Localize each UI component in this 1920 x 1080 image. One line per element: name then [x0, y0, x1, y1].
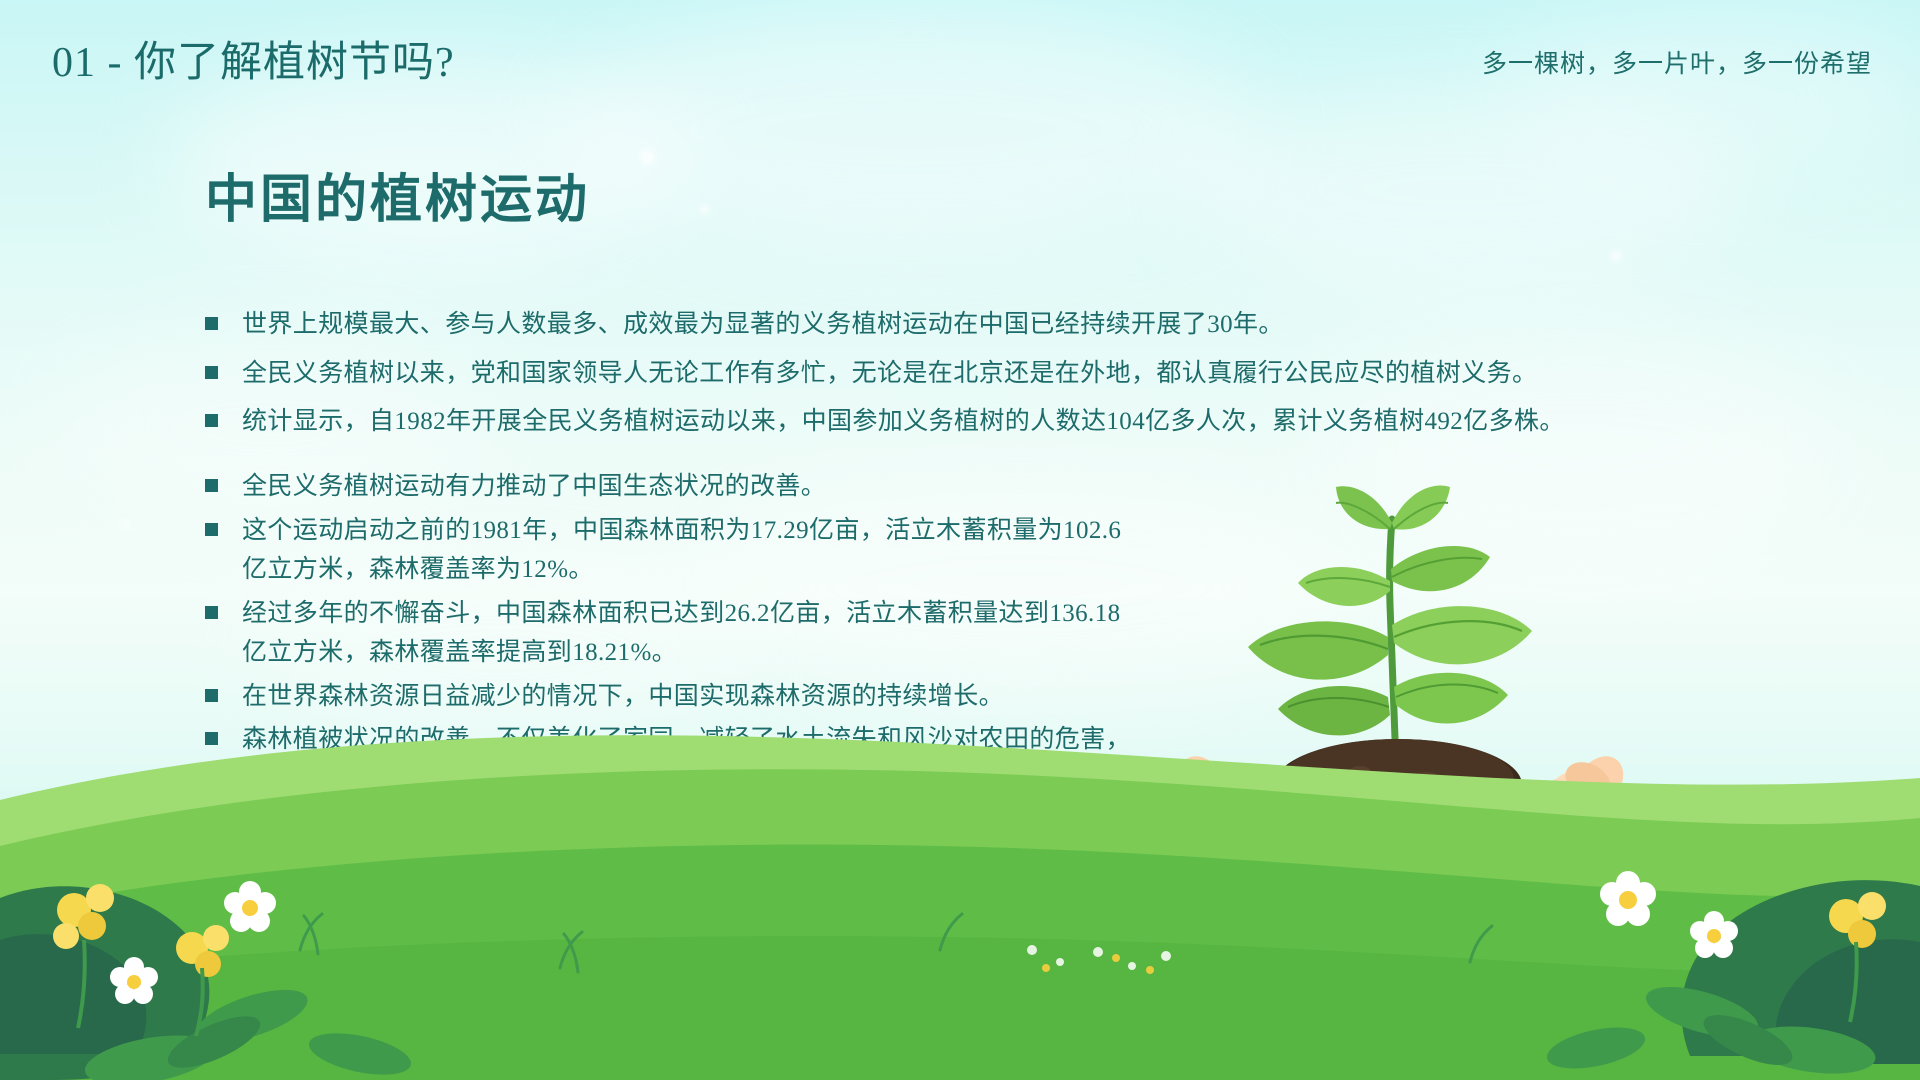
bullet-square-icon [205, 317, 218, 330]
bullet-square-icon [205, 366, 218, 379]
bullet-list-primary: 世界上规模最大、参与人数最多、成效最为显著的义务植树运动在中国已经持续开展了30… [205, 305, 1685, 451]
bullet-square-icon [205, 414, 218, 427]
sparkle-dot [640, 150, 654, 164]
list-item: 这个运动启动之前的1981年，中国森林面积为17.29亿亩，活立木蓄积量为102… [205, 511, 1145, 590]
bullet-square-icon [205, 479, 218, 492]
bullet-square-icon [205, 523, 218, 536]
bullet-square-icon [205, 606, 218, 619]
sparkle-dot [1610, 250, 1622, 262]
cloud-blob [1500, 10, 1920, 180]
section-heading: 中国的植树运动 [205, 157, 590, 232]
list-item-text: 全民义务植树运动有力推动了中国生态状况的改善。 [242, 467, 1145, 507]
list-item-text: 全民义务植树以来，党和国家领导人无论工作有多忙，无论是在北京还是在外地，都认真履… [242, 354, 1685, 394]
slide-canvas: 01 - 你了解植树节吗? 多一棵树，多一片叶，多一份希望 中国的植树运动 世界… [0, 0, 1920, 1080]
list-item-text: 世界上规模最大、参与人数最多、成效最为显著的义务植树运动在中国已经持续开展了30… [242, 305, 1685, 345]
cloud-blob [1180, 90, 1740, 290]
cloud-blob [560, 10, 1260, 250]
list-item-text: 统计显示，自1982年开展全民义务植树运动以来，中国参加义务植树的人数达104亿… [242, 402, 1685, 442]
list-item: 全民义务植树运动有力推动了中国生态状况的改善。 [205, 467, 1145, 507]
list-item: 世界上规模最大、参与人数最多、成效最为显著的义务植树运动在中国已经持续开展了30… [205, 305, 1685, 345]
list-item: 统计显示，自1982年开展全民义务植树运动以来，中国参加义务植树的人数达104亿… [205, 402, 1685, 442]
grass-hills [0, 650, 1920, 1080]
sparkle-dot [120, 520, 130, 530]
slide-tagline: 多一棵树，多一片叶，多一份希望 [1482, 44, 1872, 80]
list-item: 全民义务植树以来，党和国家领导人无论工作有多忙，无论是在北京还是在外地，都认真履… [205, 354, 1685, 394]
list-item-text: 这个运动启动之前的1981年，中国森林面积为17.29亿亩，活立木蓄积量为102… [242, 511, 1145, 590]
page-title: 01 - 你了解植树节吗? [52, 28, 455, 89]
sparkle-dot [700, 205, 709, 214]
